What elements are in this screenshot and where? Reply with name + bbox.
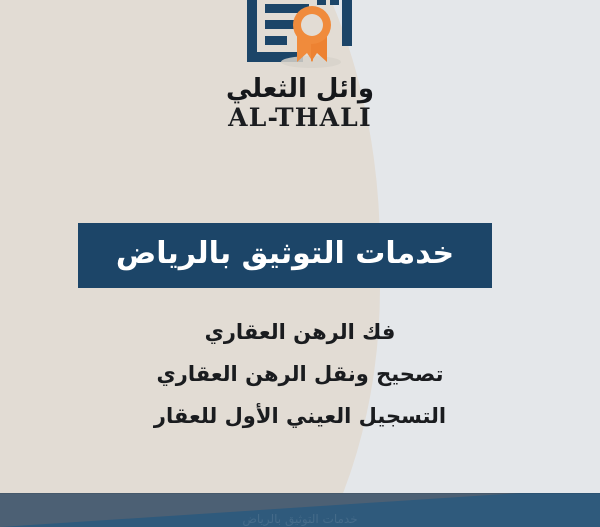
headline-title: خدمات التوثيق بالرياض xyxy=(116,239,454,272)
poster-canvas: وائل الثعلي AL-THALI خدمات التوثيق بالري… xyxy=(0,0,600,527)
footer-watermark-text: خدمات التوثيق بالرياض xyxy=(0,493,600,527)
logo-name-arabic: وائل الثعلي xyxy=(0,76,600,103)
logo-name-english: AL-THALI xyxy=(0,104,600,132)
logo-block: وائل الثعلي AL-THALI xyxy=(0,0,600,132)
headline-banner: خدمات التوثيق بالرياض xyxy=(78,223,492,288)
footer-bar: خدمات التوثيق بالرياض xyxy=(0,493,600,527)
service-item: تصحيح ونقل الرهن العقاري xyxy=(0,364,600,385)
service-item: فك الرهن العقاري xyxy=(0,322,600,343)
certificate-award-icon xyxy=(225,0,375,72)
service-item: التسجيل العيني الأول للعقار xyxy=(0,406,600,427)
services-list: فك الرهن العقاري تصحيح ونقل الرهن العقار… xyxy=(0,322,600,448)
